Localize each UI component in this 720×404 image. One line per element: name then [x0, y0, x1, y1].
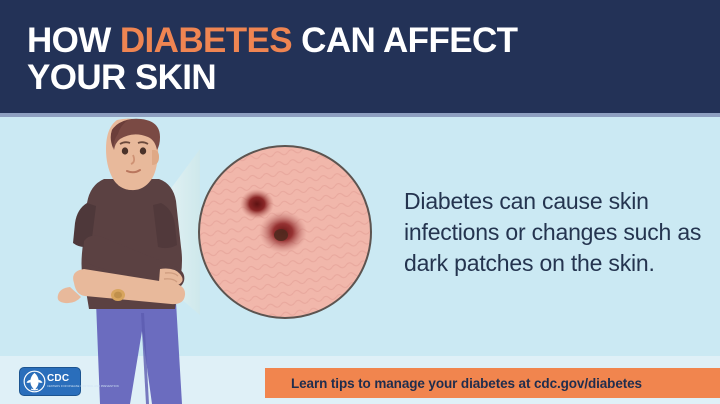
ear — [152, 150, 159, 165]
body-paragraph: Diabetes can cause skin infections or ch… — [404, 186, 704, 279]
eye-left — [122, 147, 128, 154]
cdc-logo[interactable]: CDC CENTERS FOR DISEASE CONTROL AND PREV… — [19, 367, 81, 396]
eye-right — [140, 147, 146, 154]
dark-patch-small — [240, 189, 274, 219]
title-highlight-diabetes: DIABETES — [120, 21, 292, 60]
page-title: HOW DIABETES CAN AFFECT YOUR SKIN — [27, 22, 687, 96]
wristwatch-face — [114, 292, 122, 299]
illustration-svg — [0, 117, 404, 404]
cta-banner[interactable]: Learn tips to manage your diabetes at cd… — [265, 368, 720, 398]
illustration-man-with-magnified-skin — [0, 117, 404, 404]
title-segment-1: HOW — [27, 21, 120, 60]
magnifier-circle — [195, 142, 379, 326]
person-figure — [58, 119, 185, 404]
infographic-root: HOW DIABETES CAN AFFECT YOUR SKIN — [0, 0, 720, 404]
dark-patch-core — [274, 229, 288, 241]
cta-text: Learn tips to manage your diabetes at cd… — [265, 376, 642, 391]
cdc-wordmark: CDC — [47, 374, 119, 384]
pants — [96, 302, 182, 404]
hhs-caduceus-icon — [23, 370, 46, 393]
cdc-tagline: CENTERS FOR DISEASE CONTROL AND PREVENTI… — [47, 385, 119, 388]
